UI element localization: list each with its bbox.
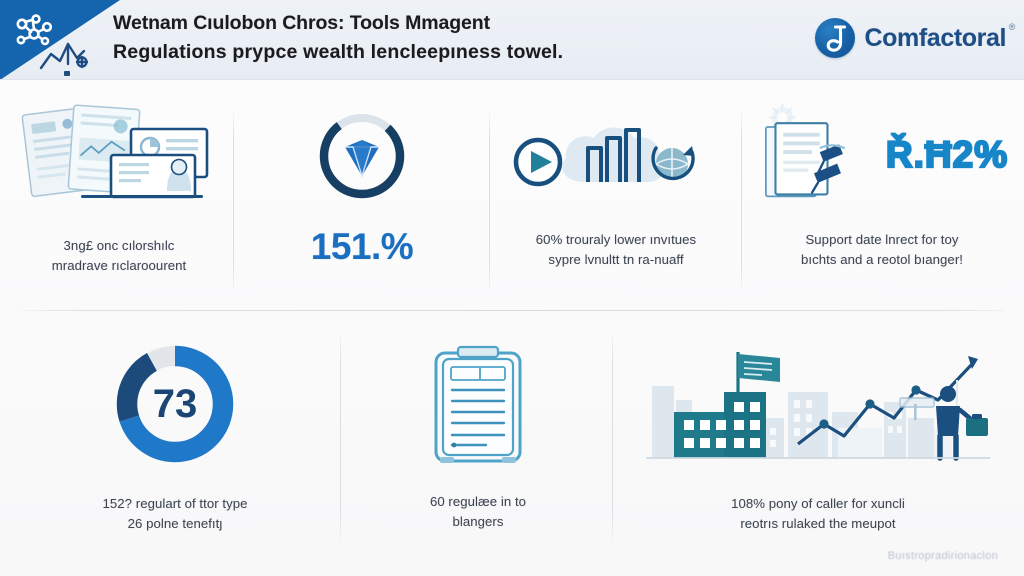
donut-ring-with-diamond-icon (312, 106, 412, 206)
card-caption-line1: 152? regulart of ttor type (103, 494, 248, 514)
donut-center-value: 73 (153, 382, 198, 426)
clipboard-document-icon (424, 340, 532, 470)
infographic-root: Wetnam Cıulobon Chros: Tools Mmagent Reg… (0, 0, 1024, 576)
page-title: Wetnam Cıulobon Chros: Tools Mmagent Reg… (113, 9, 673, 67)
card-documents-pins: Ř.Ħ2% Support date lnrect for toy bıchts… (748, 96, 1016, 270)
cityscape-flag-growth-line-businessman (638, 346, 998, 470)
card-caption-line1: 108% pony of caller for xuncli (731, 494, 905, 514)
card-gem-ring: 151.% (240, 96, 484, 265)
card-caption-line1: 3ng£ onc cılorshılc (52, 236, 187, 256)
brand-name: Comfactoral ® (865, 24, 1006, 53)
card-cloud-analytics: 60% trouraly lower ınvıtues sypre lvnult… (494, 96, 738, 270)
card-caption: 108% pony of caller for xuncli reotrıs r… (731, 494, 905, 534)
card-caption-line2: blangers (430, 512, 526, 532)
column-divider-4 (340, 334, 341, 542)
card-caption-line2: mradrave rıclaroourent (52, 256, 187, 276)
card-caption-line1: Support date lnrect for toy (801, 230, 963, 250)
card-caption-line1: 60 regulæe in to (430, 492, 526, 512)
brand-lockup: Comfactoral ® (815, 18, 1006, 58)
page-title-line2: Regulations prypce wealth lencleepıness … (113, 38, 673, 67)
brand-trademark: ® (1009, 22, 1015, 32)
card-caption: 152? regulart of ttor type 26 polne tene… (103, 494, 248, 534)
card-metric: Ř.Ħ2% (886, 136, 1008, 173)
brand-badge (815, 18, 855, 58)
card-caption: Support date lnrect for toy bıchts and a… (801, 230, 963, 270)
play-button-cloud-barchart-globe (506, 104, 726, 204)
header-banner: Wetnam Cıulobon Chros: Tools Mmagent Reg… (0, 0, 1024, 80)
card-caption-line2: 26 polne tenefıtȷ (103, 514, 248, 534)
row-divider (22, 310, 1005, 311)
column-divider-1 (233, 112, 234, 290)
card-metric: 151.% (311, 228, 413, 265)
card-caption-line2: sypre lvnultt tn ra-nuaff (536, 250, 696, 270)
card-caption-line2: reotrıs rulaked the meupot (731, 514, 905, 534)
card-clipboard: 60 regulæe in to blangers (352, 338, 604, 532)
card-caption-line1: 60% trouraly lower ınvıtues (536, 230, 696, 250)
brand-name-text: Comfactoral (865, 24, 1006, 52)
card-caption-line2: bıchts and a reotol bıanger! (801, 250, 963, 270)
card-city-growth: 108% pony of caller for xuncli reotrıs r… (622, 338, 1014, 534)
column-divider-5 (612, 334, 613, 542)
stylized-d-monogram-icon (815, 18, 855, 58)
card-documents-dashboard: 3ng£ onc cılorshılc mradrave rıclarooure… (8, 96, 230, 276)
footer-watermark: Buıstropradirionaclon (888, 550, 998, 562)
column-divider-2 (489, 112, 490, 290)
card-donut-73: 73 152? regulart of ttor type 26 polne t… (18, 338, 332, 534)
documents-and-dashboard-illustration (19, 100, 219, 210)
line-chart-icon (38, 34, 96, 78)
donut-chart: 73 (113, 342, 237, 466)
documents-pins-and-metric: Ř.Ħ2% (748, 100, 1016, 208)
diamond-icon (345, 140, 379, 176)
card-caption: 60% trouraly lower ınvıtues sypre lvnult… (536, 230, 696, 270)
card-caption: 3ng£ onc cılorshılc mradrave rıclarooure… (52, 236, 187, 276)
page-title-line1: Wetnam Cıulobon Chros: Tools Mmagent (113, 9, 673, 38)
stacked-documents-with-pushpins-icon (756, 102, 872, 206)
column-divider-3 (741, 112, 742, 290)
card-caption: 60 regulæe in to blangers (430, 492, 526, 532)
globe-icon (653, 146, 694, 180)
